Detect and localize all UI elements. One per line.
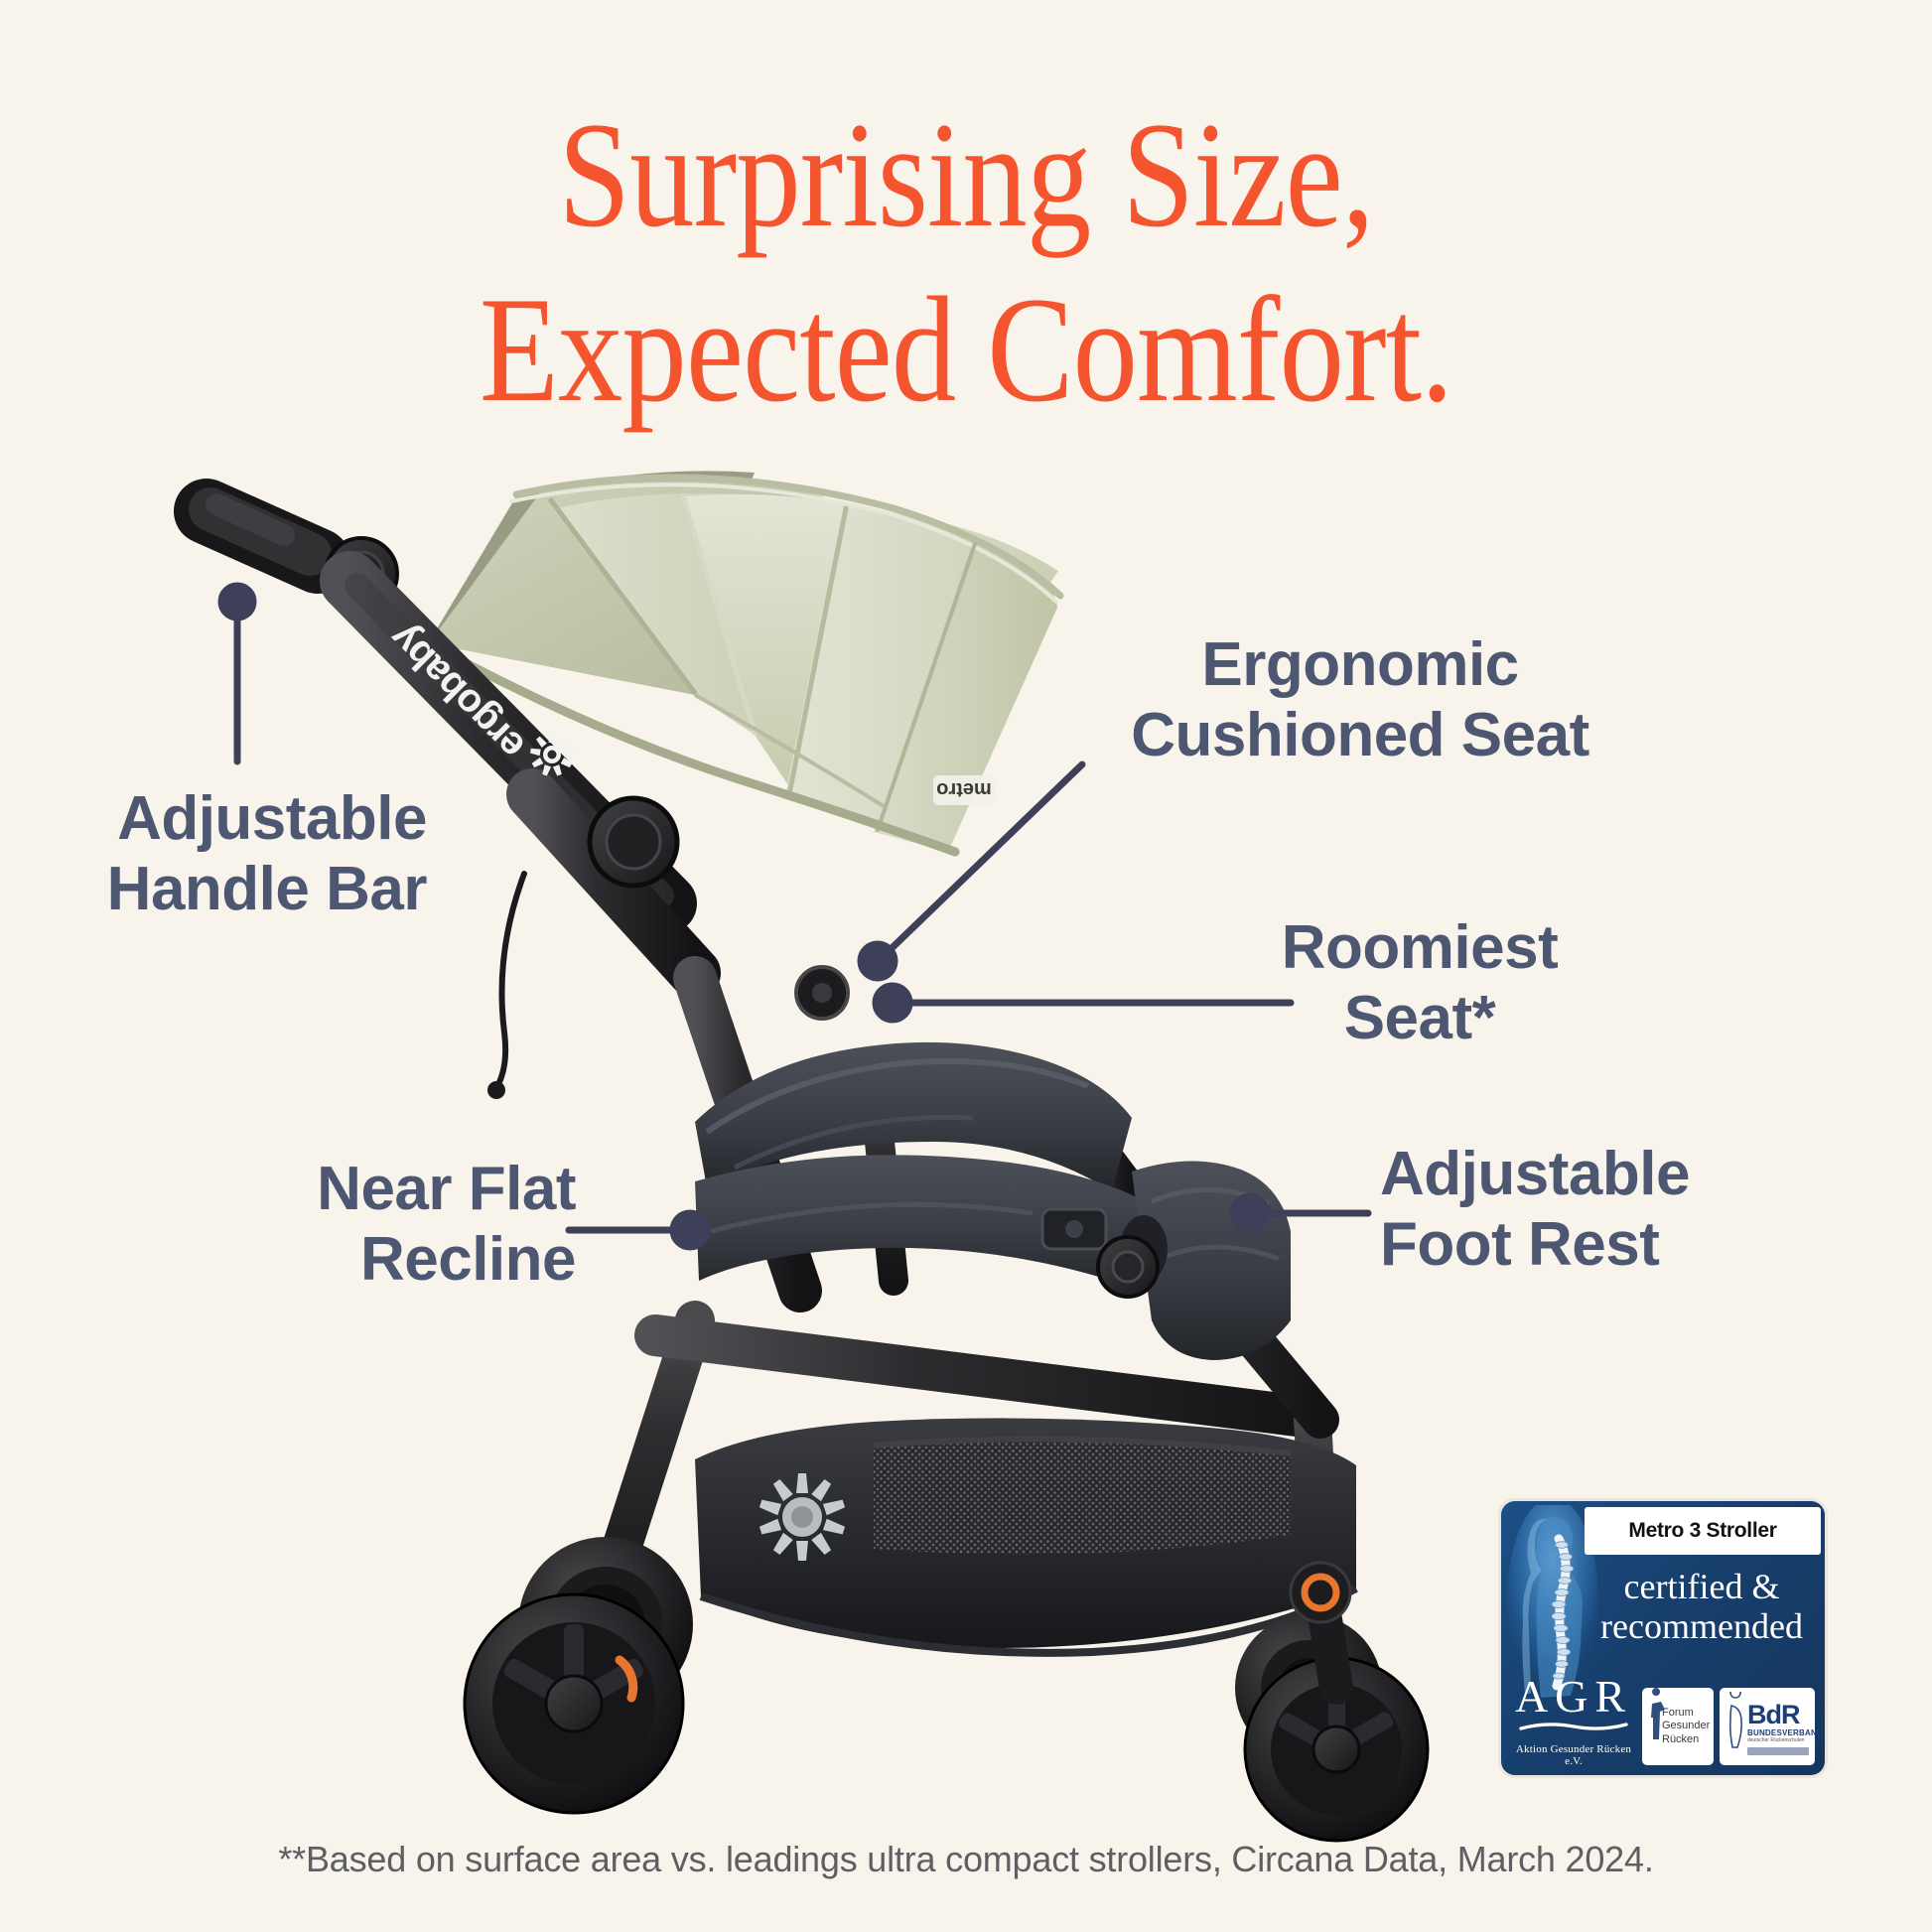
footnote-text: **Based on surface area vs. leadings ult… <box>0 1839 1932 1880</box>
bdr-logo: BdR BUNDESVERBAND deutscher Rückenschule… <box>1720 1688 1815 1765</box>
agr-product-name: Metro 3 Stroller <box>1628 1519 1776 1543</box>
storage-basket <box>695 1418 1356 1652</box>
callout-label-adjustable-foot-rest: Adjustable Foot Rest <box>1380 1140 1876 1280</box>
agr-subtitle: Aktion Gesunder Rücken e.V. <box>1511 1743 1636 1767</box>
agr-certification-badge: Metro 3 Stroller certified & recommended… <box>1501 1501 1825 1775</box>
infographic-canvas: Surprising Size, Expected Comfort. <box>0 0 1932 1932</box>
forum-gesunder-ruecken-logo: Forum Gesunder Rücken <box>1642 1688 1714 1765</box>
agr-swoosh-icon <box>1519 1722 1628 1731</box>
bdr-back-figure-icon <box>1723 1692 1748 1761</box>
bdr-line2: deutscher Rückenschulen <box>1747 1737 1823 1743</box>
forum-text: Forum Gesunder Rücken <box>1662 1707 1710 1746</box>
callout-label-ergonomic-cushioned-seat: Ergonomic Cushioned Seat <box>1092 630 1628 770</box>
agr-logo: AGR Aktion Gesunder Rücken e.V. <box>1511 1674 1636 1767</box>
bdr-bar <box>1747 1747 1809 1755</box>
canopy-model-wordmark: metro <box>936 778 992 800</box>
callout-label-near-flat-recline: Near Flat Recline <box>159 1155 576 1295</box>
callout-label-roomiest-seat: Roomiest Seat* <box>1211 913 1628 1053</box>
agr-product-name-bar: Metro 3 Stroller <box>1585 1507 1821 1555</box>
agr-certification-text: certified & recommended <box>1587 1567 1817 1647</box>
bdr-line1: BUNDESVERBAND <box>1747 1728 1823 1737</box>
bdr-acronym: BdR <box>1747 1702 1823 1728</box>
rear-wheel-front <box>465 1594 683 1813</box>
agr-acronym: AGR <box>1511 1674 1636 1720</box>
forum-figure-icon <box>1645 1688 1669 1765</box>
bdr-text-block: BdR BUNDESVERBAND deutscher Rückenschule… <box>1747 1702 1823 1743</box>
callout-label-adjustable-handle-bar: Adjustable Handle Bar <box>30 784 427 924</box>
